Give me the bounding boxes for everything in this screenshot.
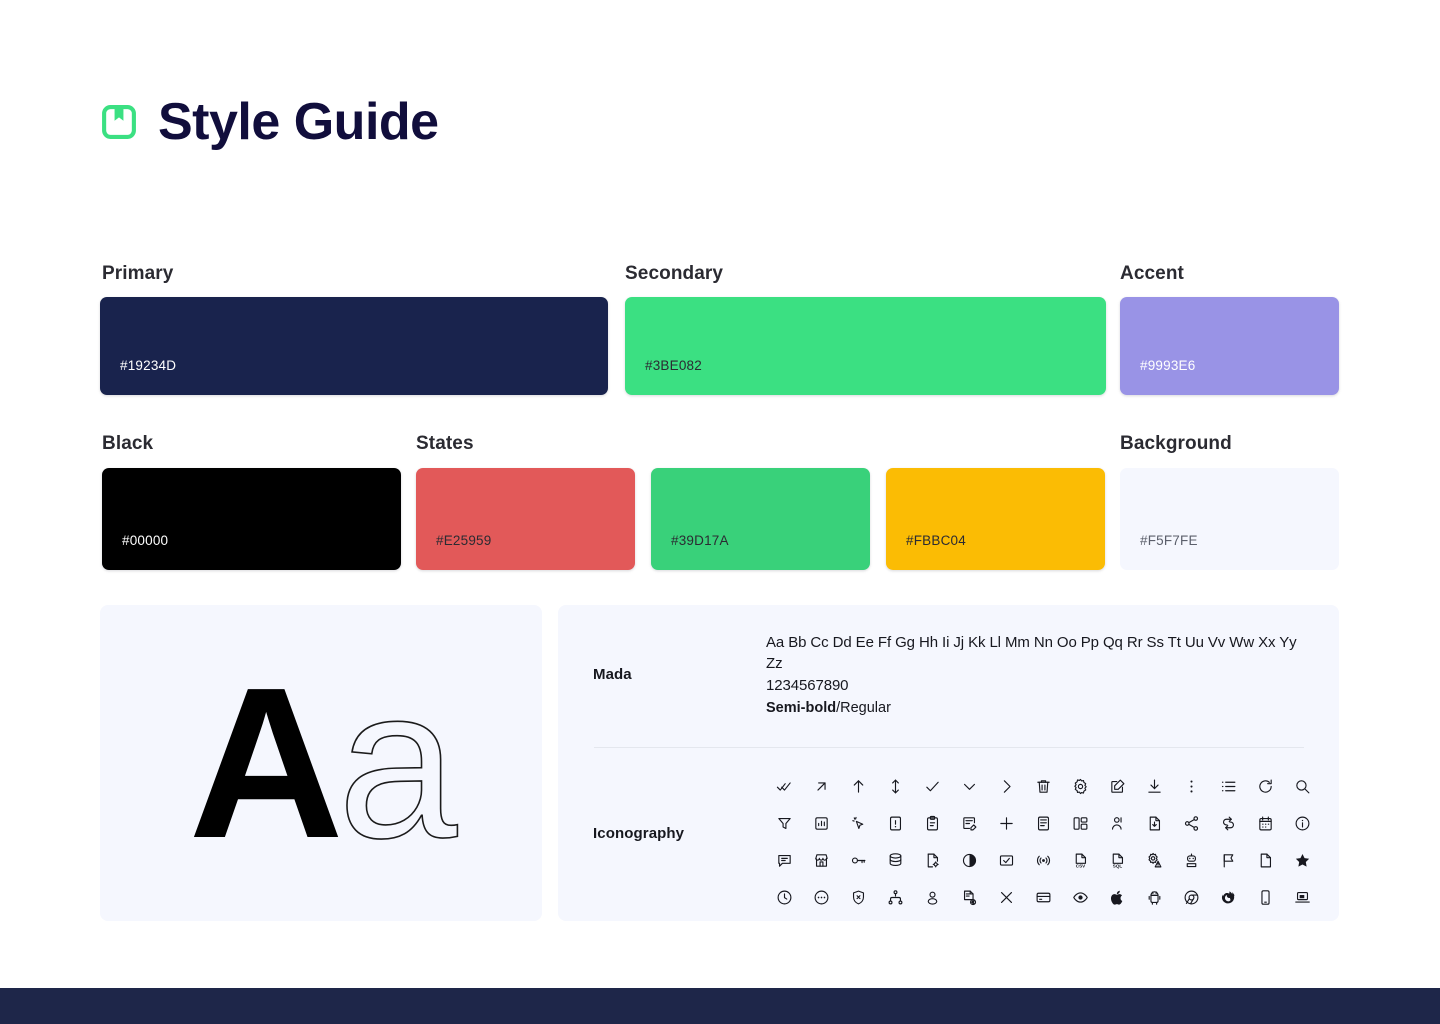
typography-specimen-card: A a [100, 605, 542, 921]
svg-text:CSV: CSV [1076, 864, 1086, 869]
checkbox-icon[interactable] [988, 842, 1025, 879]
x-close-icon[interactable] [988, 879, 1025, 916]
settings-alert-icon[interactable] [1136, 842, 1173, 879]
key-icon[interactable] [840, 842, 877, 879]
swatch-group-label-accent: Accent [1120, 263, 1184, 285]
specimen-uppercase-a: A [189, 672, 338, 855]
specimen-lowercase-a: a [338, 672, 454, 855]
cursor-click-icon[interactable] [840, 805, 877, 842]
swatch-group-label-background: Background [1120, 433, 1232, 455]
flag-icon[interactable] [1210, 842, 1247, 879]
android-icon[interactable] [1136, 879, 1173, 916]
specimen-letters: A a [100, 605, 542, 921]
user-badge-icon[interactable] [1099, 805, 1136, 842]
trash-icon[interactable] [1025, 768, 1062, 805]
sql-file-icon[interactable]: SQL [1099, 842, 1136, 879]
check-icon[interactable] [914, 768, 951, 805]
font-alphabet-sample: Aa Bb Cc Dd Ee Ff Gg Hh Ii Jj Kk Ll Mm N… [766, 632, 1306, 696]
refresh-icon[interactable] [1247, 768, 1284, 805]
clipboard-edit-icon[interactable] [951, 805, 988, 842]
list-details-icon[interactable] [1025, 805, 1062, 842]
page-title: Style Guide [158, 96, 439, 148]
iconography-label: Iconography [593, 825, 684, 842]
edit-square-icon[interactable] [1099, 768, 1136, 805]
dots-circle-icon[interactable] [803, 879, 840, 916]
apple-icon[interactable] [1099, 879, 1136, 916]
swatch-group-label-states: States [416, 433, 474, 455]
bookmark-square-icon [100, 103, 138, 141]
file-icon[interactable] [1247, 842, 1284, 879]
chevron-right-icon[interactable] [988, 768, 1025, 805]
color-swatch-primary[interactable]: #19234D [100, 297, 608, 395]
eye-icon[interactable] [1062, 879, 1099, 916]
robot-icon[interactable] [1173, 842, 1210, 879]
swatch-hex-label: #3BE082 [645, 358, 702, 373]
dots-vertical-icon[interactable] [1173, 768, 1210, 805]
swatch-hex-label: #F5F7FE [1140, 533, 1198, 548]
laptop-icon[interactable] [1284, 879, 1321, 916]
icon-grid: CSV SQL [766, 768, 1321, 916]
color-swatch-secondary[interactable]: #3BE082 [625, 297, 1106, 395]
section-divider [594, 747, 1304, 748]
color-swatch-state-warning[interactable]: #FBBC04 [886, 468, 1105, 570]
swatch-group-label-black: Black [102, 433, 153, 455]
user-circle-icon[interactable] [914, 879, 951, 916]
bar-chart-icon[interactable] [803, 805, 840, 842]
broadcast-icon[interactable] [1025, 842, 1062, 879]
arrows-vertical-icon[interactable] [877, 768, 914, 805]
shield-x-icon[interactable] [840, 879, 877, 916]
calendar-icon[interactable] [1247, 805, 1284, 842]
search-icon[interactable] [1284, 768, 1321, 805]
font-weight-semibold: Semi-bold [766, 700, 836, 716]
swatch-group-label-secondary: Secondary [625, 263, 723, 285]
color-swatch-black[interactable]: #00000 [102, 468, 401, 570]
file-download-icon[interactable] [1136, 805, 1173, 842]
csv-file-icon[interactable]: CSV [1062, 842, 1099, 879]
color-swatch-accent[interactable]: #9993E6 [1120, 297, 1339, 395]
info-circle-icon[interactable] [1284, 805, 1321, 842]
alert-square-icon[interactable] [877, 805, 914, 842]
clock-icon[interactable] [766, 879, 803, 916]
font-weights: Semi-bold/Regular [766, 700, 891, 716]
clipboard-icon[interactable] [914, 805, 951, 842]
filter-icon[interactable] [766, 805, 803, 842]
color-swatch-background[interactable]: #F5F7FE [1120, 468, 1339, 570]
message-icon[interactable] [766, 842, 803, 879]
numerals-line: 1234567890 [766, 677, 848, 694]
swatch-hex-label: #00000 [122, 533, 168, 548]
double-check-icon[interactable] [766, 768, 803, 805]
font-family-label: Mada [593, 666, 632, 683]
color-swatch-state-error[interactable]: #E25959 [416, 468, 635, 570]
star-filled-icon[interactable] [1284, 842, 1321, 879]
chevron-down-icon[interactable] [951, 768, 988, 805]
file-settings-icon[interactable] [914, 842, 951, 879]
page-header: Style Guide [100, 96, 439, 148]
layout-dashboard-icon[interactable] [1062, 805, 1099, 842]
gear-icon[interactable] [1062, 768, 1099, 805]
swatch-group-label-primary: Primary [102, 263, 173, 285]
database-icon[interactable] [877, 842, 914, 879]
contrast-icon[interactable] [951, 842, 988, 879]
download-icon[interactable] [1136, 768, 1173, 805]
credit-card-icon[interactable] [1025, 879, 1062, 916]
store-icon[interactable] [803, 842, 840, 879]
swatch-hex-label: #9993E6 [1140, 358, 1195, 373]
swatch-hex-label: #E25959 [436, 533, 491, 548]
mobile-icon[interactable] [1247, 879, 1284, 916]
font-weight-regular: Regular [840, 700, 891, 716]
footer-bar [0, 988, 1440, 1024]
swatch-hex-label: #FBBC04 [906, 533, 966, 548]
sitemap-icon[interactable] [877, 879, 914, 916]
refresh-document-icon[interactable] [1210, 805, 1247, 842]
svg-text:SQL: SQL [1113, 864, 1123, 869]
list-icon[interactable] [1210, 768, 1247, 805]
arrow-up-icon[interactable] [840, 768, 877, 805]
chrome-icon[interactable] [1173, 879, 1210, 916]
plus-icon[interactable] [988, 805, 1025, 842]
color-swatch-state-success[interactable]: #39D17A [651, 468, 870, 570]
share-icon[interactable] [1173, 805, 1210, 842]
arrow-up-right-icon[interactable] [803, 768, 840, 805]
file-euro-icon[interactable] [951, 879, 988, 916]
swatch-hex-label: #19234D [120, 358, 176, 373]
firefox-icon[interactable] [1210, 879, 1247, 916]
alphabet-line: Aa Bb Cc Dd Ee Ff Gg Hh Ii Jj Kk Ll Mm N… [766, 634, 1297, 672]
swatch-hex-label: #39D17A [671, 533, 729, 548]
style-guide-page: Style Guide Primary Secondary Accent #19… [0, 0, 1440, 1024]
